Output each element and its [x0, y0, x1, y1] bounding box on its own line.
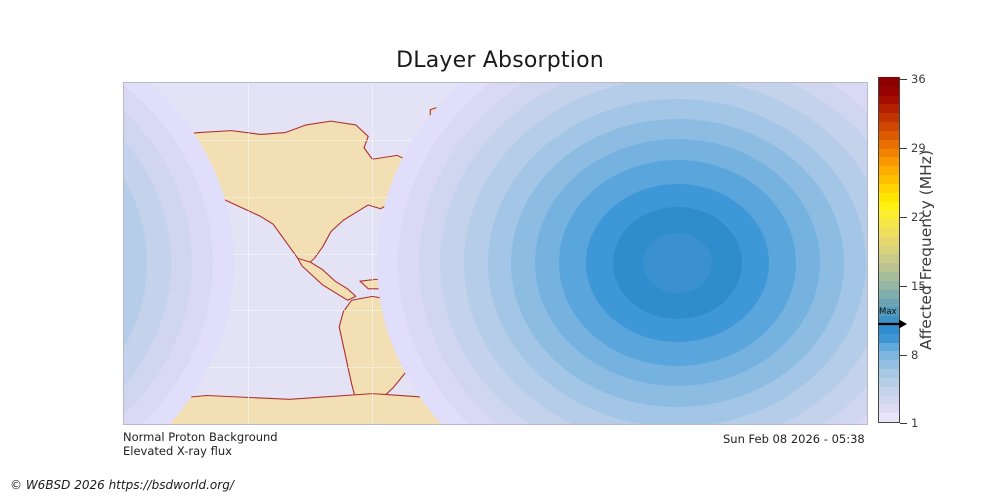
colorbar-band [879, 166, 899, 175]
colorbar-band [879, 104, 899, 113]
colorbar-band [879, 360, 899, 369]
colorbar-band [879, 271, 899, 280]
colorbar-band [879, 227, 899, 236]
landmass-layer [124, 83, 868, 425]
colorbar[interactable] [878, 77, 900, 423]
colorbar-band [879, 236, 899, 245]
north-america-shape [128, 121, 459, 266]
colorbar-axis-label: Affected Frequency (MHz) [916, 77, 936, 423]
note-proton-background: Normal Proton Background [123, 430, 278, 444]
colorbar-band [879, 201, 899, 210]
tick-dash [900, 148, 907, 149]
colorbar-band [879, 413, 899, 422]
indonesia-shape [695, 243, 770, 270]
india-shape [633, 213, 674, 263]
tick-dash [900, 423, 907, 424]
asia-shape [550, 121, 815, 251]
colorbar-band [879, 77, 899, 86]
tick-dash [900, 355, 907, 356]
colorbar-band [879, 139, 899, 148]
colorbar-band [879, 254, 899, 263]
max-marker-label: Max [879, 307, 897, 317]
page-title: DLayer Absorption [0, 48, 1000, 73]
colorbar-band [879, 219, 899, 228]
australia-shape [724, 296, 823, 353]
colorbar-band [879, 148, 899, 157]
colorbar-band [879, 342, 899, 351]
colorbar-band [879, 122, 899, 131]
colorbar-axis-label-text: Affected Frequency (MHz) [917, 150, 935, 350]
colorbar-band [879, 183, 899, 192]
map-inner [124, 83, 867, 424]
colorbar-band [879, 130, 899, 139]
colorbar-band [879, 174, 899, 183]
tick-dash [900, 217, 907, 218]
colorbar-band [879, 263, 899, 272]
greenland-shape [430, 102, 513, 148]
colorbar-band [879, 395, 899, 404]
note-xray-flux: Elevated X-ray flux [123, 444, 232, 458]
colorbar-band [879, 86, 899, 95]
iceland-shape [447, 134, 464, 144]
colorbar-band [879, 386, 899, 395]
colorbar-gradient [878, 77, 900, 423]
timestamp: Sun Feb 08 2026 - 05:38 [723, 432, 865, 446]
africa-shape [476, 220, 588, 361]
hawaii-shape [203, 237, 211, 245]
colorbar-band [879, 351, 899, 360]
south-america-shape [339, 296, 418, 407]
colorbar-band [879, 369, 899, 378]
colorbar-band [879, 404, 899, 413]
colorbar-band [879, 289, 899, 298]
colorbar-band [879, 210, 899, 219]
tick-dash [900, 79, 907, 80]
colorbar-band [879, 333, 899, 342]
colorbar-band [879, 298, 899, 307]
world-map[interactable] [123, 82, 868, 425]
max-marker: Max [878, 308, 908, 332]
colorbar-band [879, 95, 899, 104]
madagascar-shape [569, 310, 586, 339]
new-zealand-shape [844, 335, 861, 362]
antarctica-shape [124, 394, 868, 425]
colorbar-band [879, 113, 899, 122]
colorbar-band [879, 377, 899, 386]
colorbar-band [879, 192, 899, 201]
caribbean-shape [360, 279, 389, 289]
tick-dash [900, 286, 907, 287]
max-arrow-icon [878, 318, 908, 330]
central-america-shape [298, 258, 356, 300]
copyright-notice: © W6BSD 2026 https://bsdworld.org/ [10, 478, 234, 492]
colorbar-band [879, 157, 899, 166]
philippines-shape [749, 224, 766, 247]
colorbar-band [879, 280, 899, 289]
dlayer-absorption-map-page: DLayer Absorption [0, 0, 1000, 500]
colorbar-band [879, 245, 899, 254]
